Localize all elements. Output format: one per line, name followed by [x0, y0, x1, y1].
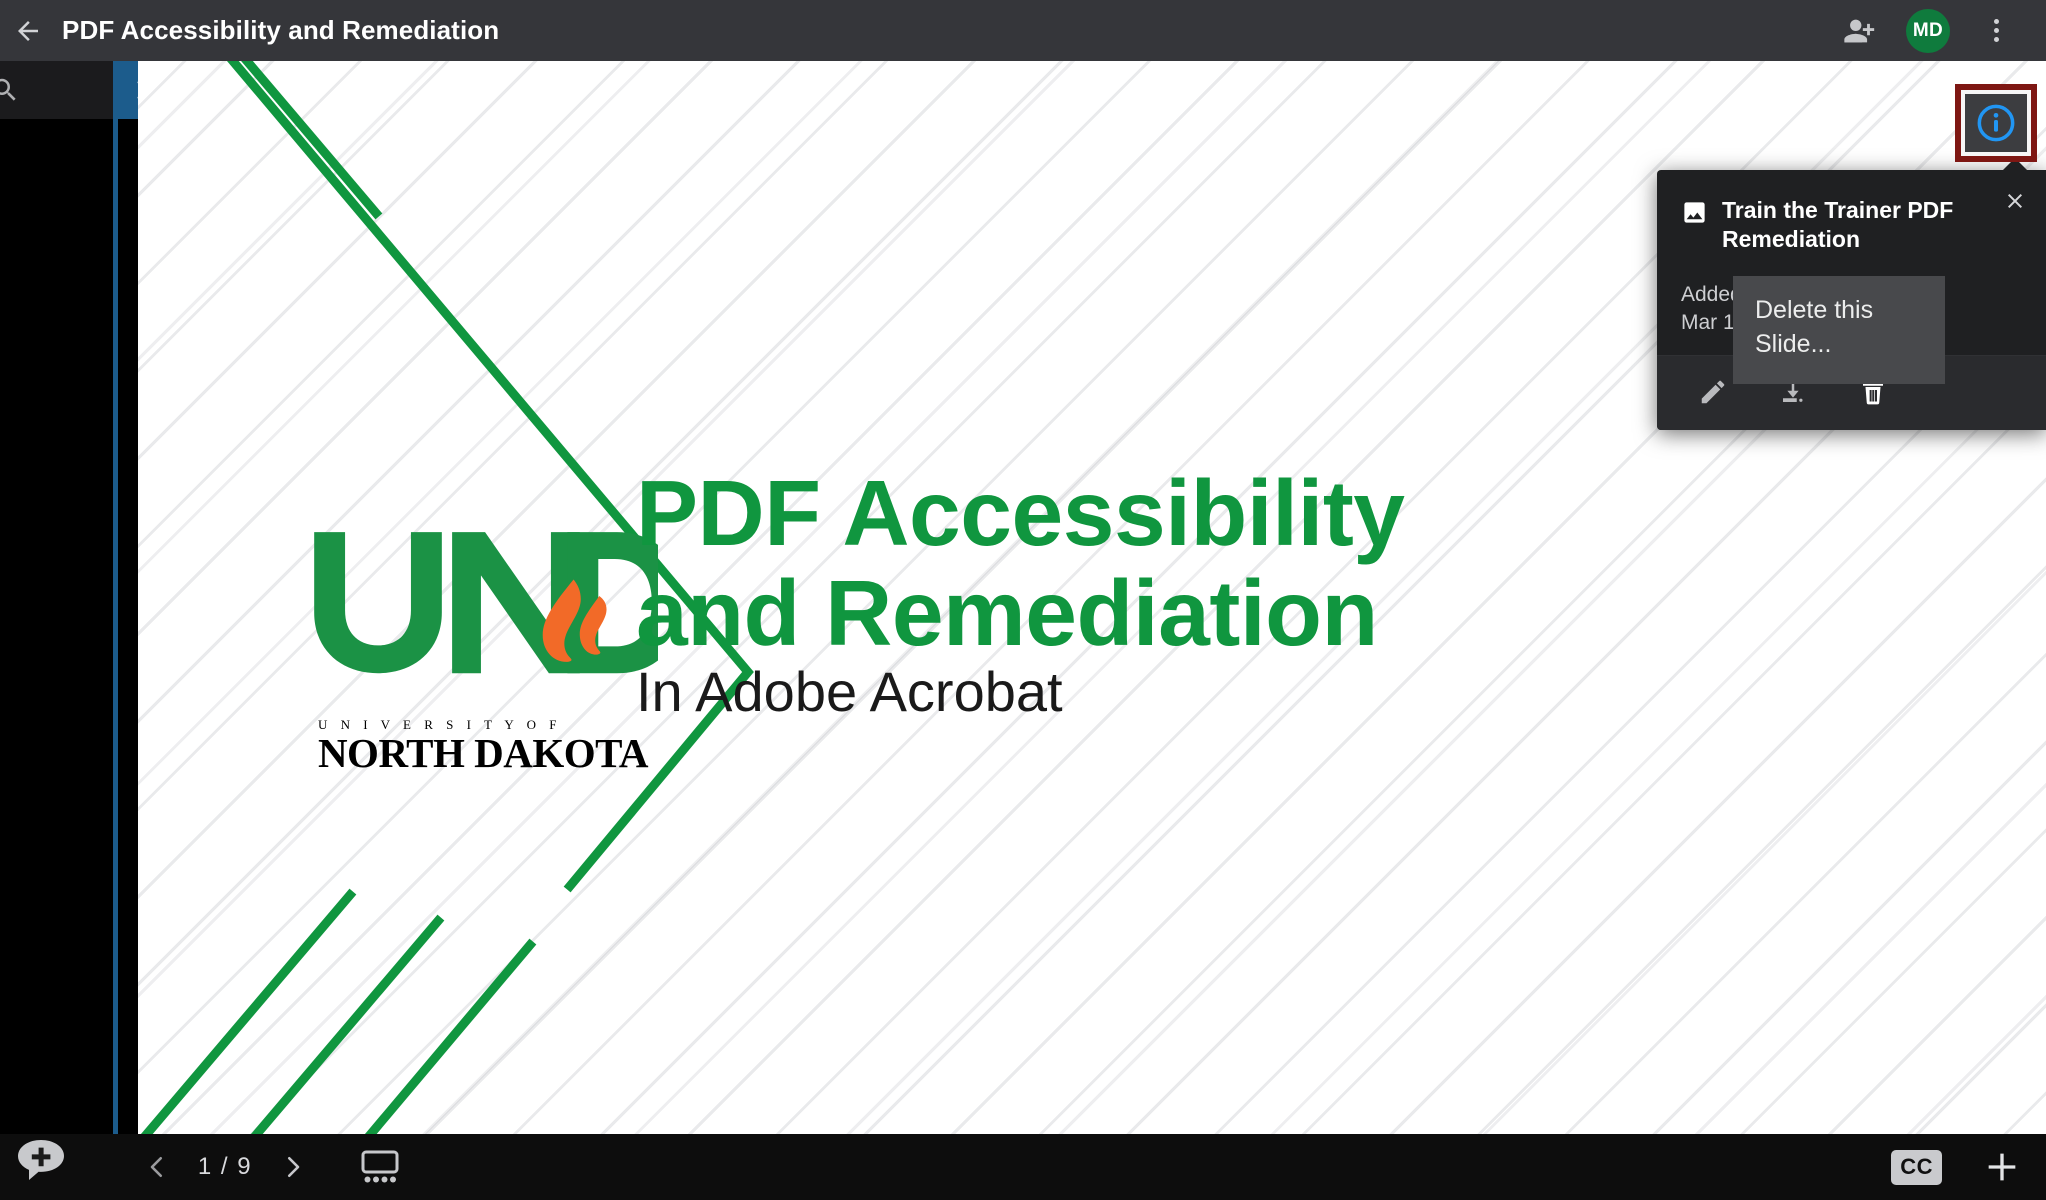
person-add-icon — [1843, 14, 1877, 48]
slide-overview-icon — [359, 1150, 401, 1184]
presentation-viewer: PDF Accessibility and Remediation MD — [0, 0, 2046, 1200]
top-app-bar: PDF Accessibility and Remediation MD — [0, 0, 2046, 61]
popup-title: Train the Trainer PDF Remediation — [1722, 196, 1978, 255]
left-sidebar-collapsed[interactable] — [0, 61, 113, 1134]
chevron-right-icon — [278, 1152, 308, 1182]
add-person-button[interactable] — [1828, 0, 1892, 61]
image-icon — [1681, 199, 1708, 226]
slide-overview-button[interactable] — [350, 1134, 410, 1200]
add-comment-icon — [12, 1134, 70, 1186]
slide-title-line2: and Remediation — [636, 563, 1976, 663]
plus-icon — [1982, 1147, 2022, 1187]
page-indicator: 1 / 9 — [192, 1153, 258, 1181]
fullscreen-button[interactable] — [1976, 1141, 2028, 1193]
user-avatar[interactable]: MD — [1906, 9, 1950, 53]
next-slide-button[interactable] — [266, 1134, 320, 1200]
delete-slide-tooltip: Delete this Slide... — [1733, 276, 1945, 384]
slide-title-line1: PDF Accessibility — [636, 463, 1976, 563]
bottom-right-controls: CC — [1891, 1134, 2028, 1200]
chevron-left-icon — [142, 1152, 172, 1182]
topbar-actions: MD — [1828, 0, 2046, 61]
info-circle-icon — [1976, 103, 2016, 143]
popup-title-row: Train the Trainer PDF Remediation — [1681, 196, 2022, 255]
page-title: PDF Accessibility and Remediation — [62, 15, 499, 46]
slide-info-button[interactable] — [1955, 84, 2037, 162]
edit-slide-button[interactable] — [1693, 372, 1733, 412]
und-logo-mark — [308, 526, 658, 706]
slide-subtitle: In Adobe Acrobat — [636, 661, 1063, 723]
edit-icon — [1698, 377, 1728, 407]
und-logo: U N I V E R S I T Y O F NORTH DAKOTA — [308, 526, 658, 774]
sidebar-search-header — [0, 61, 113, 119]
sidebar-divider — [113, 61, 118, 1200]
close-icon — [2003, 189, 2027, 213]
arrow-back-icon — [13, 16, 43, 46]
search-icon[interactable] — [0, 75, 20, 105]
previous-slide-button[interactable] — [130, 1134, 184, 1200]
slide-navigation: 1 / 9 — [130, 1134, 410, 1200]
slide-info-thumbnail — [1965, 94, 2027, 152]
back-button[interactable] — [0, 0, 56, 61]
slide-title: PDF Accessibility and Remediation — [636, 463, 1976, 664]
kebab-menu-icon — [1994, 19, 1999, 42]
closed-captions-button[interactable]: CC — [1891, 1150, 1942, 1185]
bottom-toolbar: 1 / 9 CC — [0, 1134, 2046, 1200]
popup-close-button[interactable] — [2000, 186, 2030, 216]
und-logo-line2: NORTH DAKOTA — [308, 733, 658, 774]
add-comment-button[interactable] — [12, 1134, 72, 1186]
overflow-menu-button[interactable] — [1964, 0, 2028, 61]
